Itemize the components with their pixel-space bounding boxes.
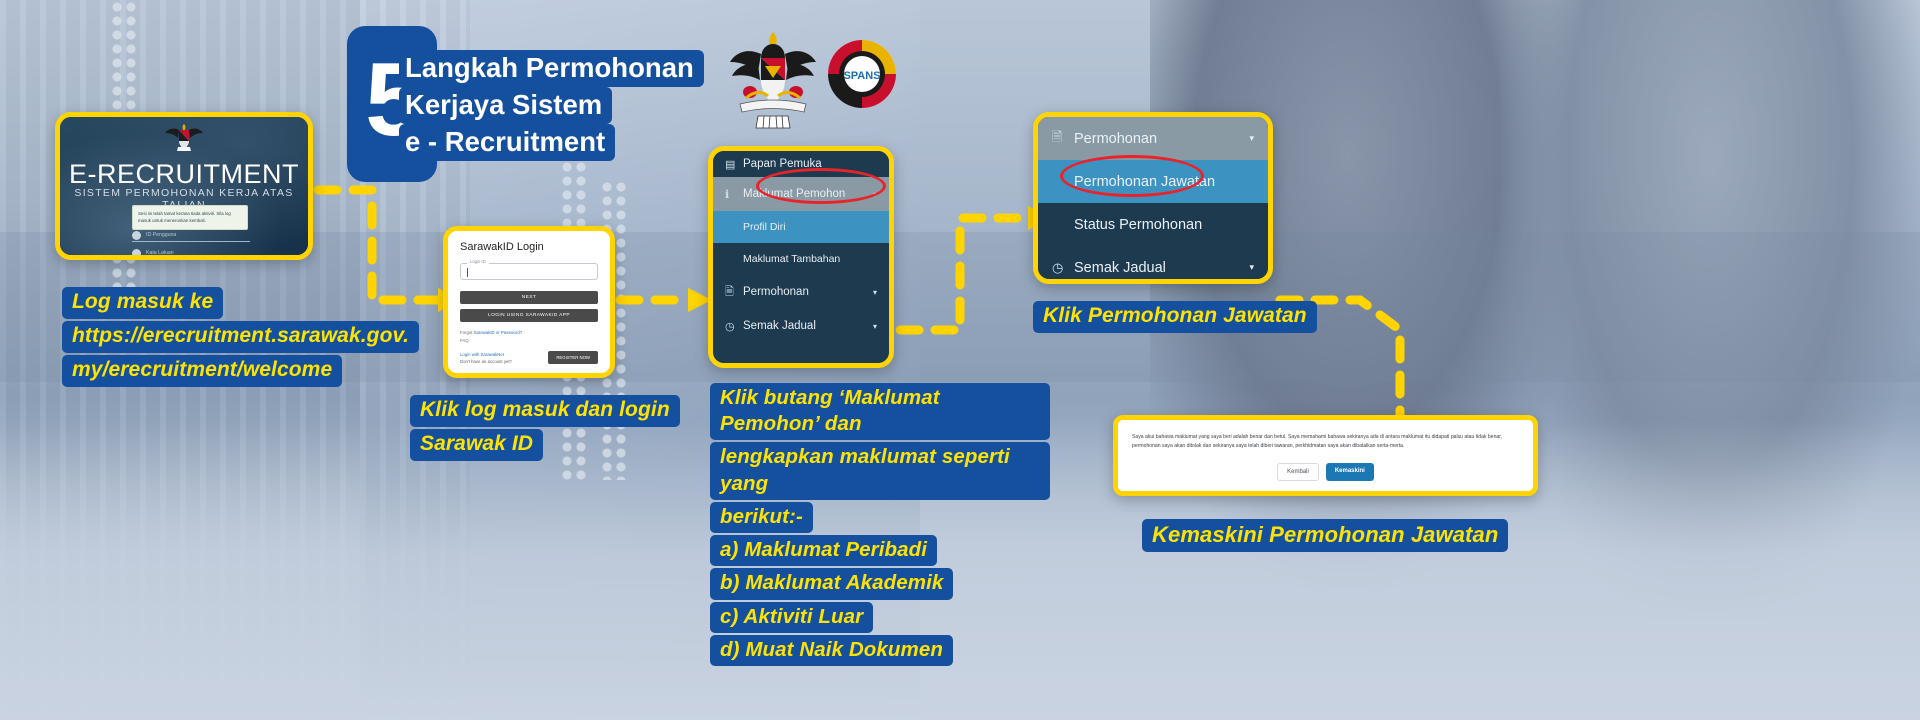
declaration-text: Saya akui bahawa maklumat yang saya beri… bbox=[1132, 433, 1519, 451]
declaration-body: Saya akui bahawa maklumat yang saya beri… bbox=[1118, 420, 1533, 491]
sidebar-item-semak-jadual[interactable]: ◷ Semak Jadual ▾ bbox=[1038, 246, 1268, 284]
sidebar-item-profil-diri[interactable]: Profil Diri bbox=[713, 211, 889, 243]
caption-step-5: Kemaskini Permohonan Jawatan bbox=[1142, 518, 1508, 553]
erec-background: E-RECRUITMENT SISTEM PERMOHONAN KERJA AT… bbox=[60, 117, 308, 255]
spans-logo-text: SPANS bbox=[843, 70, 880, 82]
sidebar-item-papan-pemuka[interactable]: ▤ Papan Pemuka bbox=[713, 151, 889, 177]
caption-line: Log masuk ke bbox=[62, 287, 223, 319]
screenshot-permohonan-menu[interactable]: 🗎 Permohonan ▾ Permohonan Jawatan Status… bbox=[1033, 112, 1273, 284]
no-account-text: Don't have an account yet? bbox=[460, 359, 512, 364]
register-now-button[interactable]: REGISTER NOW bbox=[548, 351, 598, 364]
chevron-down-icon: ▾ bbox=[873, 322, 877, 331]
dashboard-icon: ▤ bbox=[725, 158, 743, 171]
footer-left: Login with SarawakNet Don't have an acco… bbox=[460, 352, 512, 364]
caption-line: berikut:- bbox=[710, 502, 813, 533]
erec-userid-field[interactable]: ID Pengguna bbox=[132, 229, 250, 242]
caption-line: c) Aktiviti Luar bbox=[710, 602, 873, 633]
caption-line: lengkapkan maklumat seperti yang bbox=[710, 442, 1050, 499]
sidebar-item-permohonan[interactable]: 🗎 Permohonan ▾ bbox=[1038, 117, 1268, 160]
login-id-wrapper[interactable]: Login ID bbox=[460, 263, 598, 280]
kemaskini-button[interactable]: Kemaskini bbox=[1326, 463, 1374, 481]
caption-line: Klik butang ‘Maklumat Pemohon’ dan bbox=[710, 383, 1050, 440]
faq-link[interactable]: FAQ bbox=[460, 337, 598, 345]
erec-password-field[interactable]: Kata Laluan bbox=[132, 247, 250, 260]
sidebar-item-label: Status Permohonan bbox=[1074, 217, 1202, 233]
caption-step-4: Klik Permohonan Jawatan bbox=[1033, 300, 1317, 334]
sarawak-state-crest-icon bbox=[728, 18, 818, 134]
erec-password-label: Kata Laluan bbox=[146, 250, 174, 256]
sarawak-crest-icon bbox=[165, 121, 203, 151]
title-line-2: Kerjaya Sistem bbox=[399, 87, 612, 124]
lock-icon bbox=[132, 249, 141, 258]
clock-icon: ◷ bbox=[1052, 260, 1074, 276]
sidebar-item-label: Maklumat Tambahan bbox=[743, 253, 840, 265]
screenshot-declaration-modal[interactable]: Saya akui bahawa maklumat yang saya beri… bbox=[1113, 415, 1538, 496]
sidebar-menu: ▤ Papan Pemuka ℹ Maklumat Pemohon ▾ Prof… bbox=[713, 151, 889, 363]
chevron-down-icon: ▾ bbox=[873, 190, 877, 199]
caption-line: Klik log masuk dan login bbox=[410, 395, 680, 427]
sidebar-item-label: Permohonan bbox=[1074, 131, 1157, 147]
caption-line: b) Maklumat Akademik bbox=[710, 568, 953, 599]
sarawakid-links: Forgot SarawakID or Password? FAQ bbox=[460, 329, 598, 345]
sidebar-item-label: Semak Jadual bbox=[1074, 260, 1166, 276]
caption-line: Sarawak ID bbox=[410, 429, 543, 461]
sidebar-item-semak-jadual[interactable]: ◷ Semak Jadual ▾ bbox=[713, 309, 889, 343]
forgot-link[interactable]: SarawakID or Password? bbox=[474, 330, 522, 335]
kembali-button[interactable]: Kembali bbox=[1277, 463, 1319, 481]
next-button[interactable]: NEXT bbox=[460, 291, 598, 304]
caption-step-3: Klik butang ‘Maklumat Pemohon’ dan lengk… bbox=[710, 382, 1050, 667]
login-using-app-button[interactable]: LOGIN USING SARAWAKID APP bbox=[460, 309, 598, 322]
chevron-down-icon: ▾ bbox=[1249, 262, 1254, 273]
login-id-label: Login ID bbox=[467, 259, 489, 264]
erec-userid-label: ID Pengguna bbox=[146, 232, 176, 238]
sarawakid-body: SarawakID Login Login ID NEXT LOGIN USIN… bbox=[448, 231, 610, 373]
caption-line: https://erecruitment.sarawak.gov. bbox=[62, 321, 419, 353]
sidebar-item-label: Permohonan Jawatan bbox=[1074, 174, 1215, 190]
screenshot-sarawakid-login[interactable]: SarawakID Login Login ID NEXT LOGIN USIN… bbox=[443, 226, 615, 378]
title-line-3: e - Recruitment bbox=[399, 124, 615, 161]
erec-session-notice: Sesi ini telah tamat kerana tiada aktivi… bbox=[132, 205, 248, 230]
declaration-actions: Kembali Kemaskini bbox=[1118, 463, 1533, 481]
sidebar-item-label: Papan Pemuka bbox=[743, 158, 822, 170]
caption-line: Klik Permohonan Jawatan bbox=[1033, 301, 1317, 333]
sidebar-item-maklumat-pemohon[interactable]: ℹ Maklumat Pemohon ▾ bbox=[713, 177, 889, 211]
caption-line: Kemaskini Permohonan Jawatan bbox=[1142, 519, 1508, 552]
sidebar-item-label: Semak Jadual bbox=[743, 320, 816, 332]
caption-line: a) Maklumat Peribadi bbox=[710, 535, 937, 566]
sidebar-item-permohonan-jawatan[interactable]: Permohonan Jawatan bbox=[1038, 160, 1268, 203]
erec-title: E-RECRUITMENT bbox=[60, 159, 308, 190]
sarawakid-footer: Login with SarawakNet Don't have an acco… bbox=[460, 351, 598, 364]
document-icon: 🗎 bbox=[1052, 128, 1074, 150]
sarawaknet-link[interactable]: Login with SarawakNet bbox=[460, 352, 512, 357]
user-icon bbox=[132, 231, 141, 240]
sidebar-item-maklumat-tambahan[interactable]: Maklumat Tambahan bbox=[713, 243, 889, 275]
spans-logo-icon: SPANS bbox=[826, 38, 898, 110]
sidebar-item-permohonan[interactable]: 🗎 Permohonan ▾ bbox=[713, 275, 889, 309]
info-icon: ℹ bbox=[725, 188, 743, 201]
chevron-down-icon: ▾ bbox=[1249, 133, 1254, 144]
caption-step-2: Klik log masuk dan login Sarawak ID bbox=[410, 394, 690, 462]
chevron-down-icon: ▾ bbox=[873, 288, 877, 297]
sidebar-menu-2: 🗎 Permohonan ▾ Permohonan Jawatan Status… bbox=[1038, 117, 1268, 279]
sidebar-item-label: Permohonan bbox=[743, 286, 809, 298]
caption-line: d) Muat Naik Dokumen bbox=[710, 635, 953, 666]
login-id-input[interactable] bbox=[460, 263, 598, 280]
screenshot-erecruitment-portal[interactable]: E-RECRUITMENT SISTEM PERMOHONAN KERJA AT… bbox=[55, 112, 313, 260]
title-line-1: Langkah Permohonan bbox=[399, 50, 704, 87]
document-icon: 🗎 bbox=[725, 283, 743, 302]
sidebar-item-label: Profil Diri bbox=[743, 221, 786, 233]
sidebar-item-label: Maklumat Pemohon bbox=[743, 188, 845, 200]
sidebar-item-status-permohonan[interactable]: Status Permohonan bbox=[1038, 203, 1268, 246]
clock-icon: ◷ bbox=[725, 320, 743, 333]
forgot-row: Forgot SarawakID or Password? bbox=[460, 329, 598, 337]
caption-step-1: Log masuk ke https://erecruitment.sarawa… bbox=[62, 286, 422, 388]
caption-line: my/erecruitment/welcome bbox=[62, 355, 342, 387]
forgot-prefix: Forgot bbox=[460, 330, 474, 335]
sarawakid-title: SarawakID Login bbox=[460, 241, 598, 253]
screenshot-maklumat-pemohon-menu[interactable]: ▤ Papan Pemuka ℹ Maklumat Pemohon ▾ Prof… bbox=[708, 146, 894, 368]
